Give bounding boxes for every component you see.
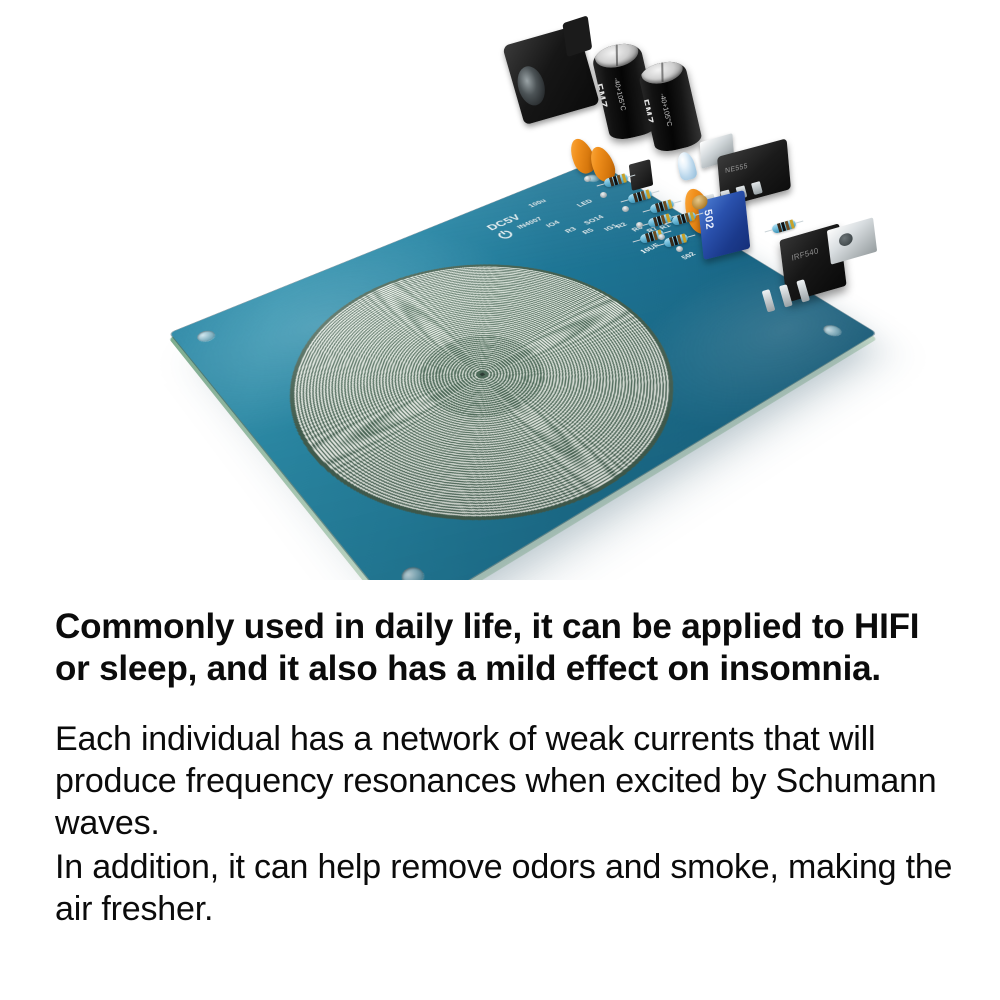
silkscreen-label-io4: IO4 (545, 220, 562, 229)
spiral-coil-antenna (221, 226, 757, 580)
silkscreen-label-r2: R2 (614, 222, 629, 230)
silkscreen-label-so14: SO14 (582, 214, 606, 226)
silkscreen-label-100u: 100u (527, 198, 548, 208)
silkscreen-label-ig1: IG1 (603, 223, 620, 232)
silkscreen-label-r3: R3 (564, 226, 579, 234)
extra-paragraph: In addition, it can help remove odors an… (0, 844, 1000, 930)
silkscreen-label-r7: R7 (645, 226, 660, 234)
silkscreen-label-r5: R5 (581, 227, 596, 235)
product-description: Commonly used in daily life, it can be a… (0, 580, 1000, 930)
mounting-hole-bottom-right (820, 323, 844, 338)
pcb-perspective-stage: DC5V ⏻ IN4007 IO4 R3 R5 SO14 IG1 R2 R6 R… (0, 0, 1000, 580)
mounting-hole-top-right (582, 173, 602, 183)
silkscreen-label-r6: R6 (630, 225, 645, 233)
silkscreen-label-502: 502 (680, 251, 698, 261)
silkscreen-label-r1: R1 (658, 223, 673, 231)
pcb-board: DC5V ⏻ IN4007 IO4 R3 R5 SO14 IG1 R2 R6 R… (170, 161, 876, 580)
lead-paragraph: Commonly used in daily life, it can be a… (0, 580, 1000, 690)
product-photo: DC5V ⏻ IN4007 IO4 R3 R5 SO14 IG1 R2 R6 R… (0, 0, 1000, 580)
silkscreen-label-led: LED (576, 199, 595, 209)
silkscreen-label-10uf: 10UF (639, 243, 663, 255)
body-paragraph: Each individual has a network of weak cu… (0, 690, 1000, 844)
mounting-hole-top-left (194, 329, 217, 344)
